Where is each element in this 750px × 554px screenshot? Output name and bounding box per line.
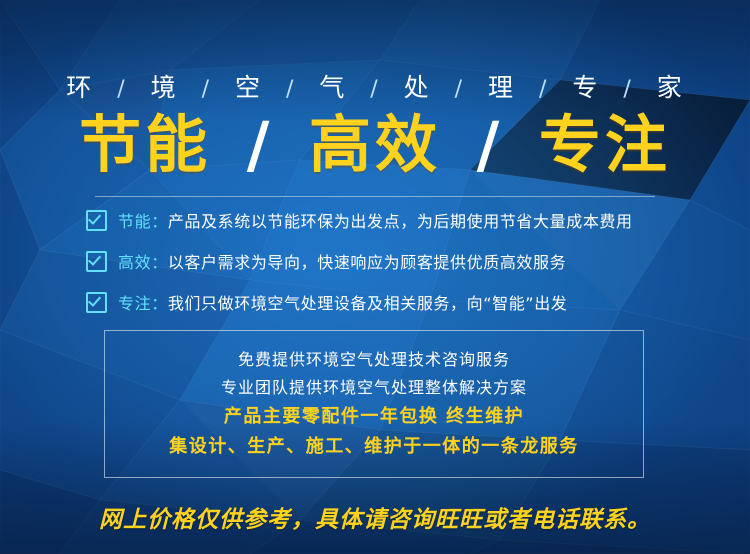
subtitle-char-5: 处	[404, 73, 431, 102]
subtitle-separator-7: /	[623, 77, 632, 102]
bullet-body-3: 我们只做环境空气处理设备及相关服务，向“智能”出发	[168, 294, 568, 313]
subtitle-separator-1: /	[117, 77, 126, 102]
bullet-body-1: 产品及系统以节能环保为出发点，为后期使用节省大量成本费用	[168, 212, 633, 231]
bullet-body-2: 以客户需求为导向，快速响应为顾客提供优质高效服务	[168, 253, 566, 272]
headline-separator-2: /	[477, 108, 504, 181]
bullet-text-2: 高效：以客户需求为导向，快速响应为顾客提供优质高效服务	[118, 249, 566, 273]
checkbox-check-icon	[86, 251, 107, 272]
box-line-2: 专业团队提供环境空气处理整体解决方案	[221, 380, 527, 396]
subtitle-separator-3: /	[286, 77, 295, 102]
bullet-text-1: 节能：产品及系统以节能环保为出发点，为后期使用节省大量成本费用	[118, 208, 633, 232]
subtitle-char-1: 环	[66, 73, 93, 102]
promo-banner: 环 / 境 / 空 / 气 / 处 / 理 / 专 / 家 节能 / 高效 / …	[0, 0, 750, 554]
subtitle-separator-6: /	[539, 77, 548, 102]
subtitle-char-3: 空	[235, 73, 262, 102]
subtitle-separator-5: /	[455, 77, 464, 102]
bullet-text-3: 专注：我们只做环境空气处理设备及相关服务，向“智能”出发	[118, 290, 567, 314]
subtitle-char-7: 专	[572, 73, 599, 102]
feature-bullet-list: 节能：产品及系统以节能环保为出发点，为后期使用节省大量成本费用 高效：以客户需求…	[86, 208, 690, 331]
bullet-key-3: 专注：	[118, 294, 168, 313]
headline-main: 节能 / 高效 / 专注	[0, 112, 750, 177]
checkbox-check-icon	[86, 210, 107, 231]
subtitle-char-6: 理	[488, 73, 515, 102]
box-line-1: 免费提供环境空气处理技术咨询服务	[238, 352, 510, 368]
bullet-key-1: 节能：	[118, 212, 168, 231]
headline-separator-1: /	[247, 108, 274, 181]
list-item: 高效：以客户需求为导向，快速响应为顾客提供优质高效服务	[86, 249, 690, 273]
box-line-4: 集设计、生产、施工、维护于一体的一条龙服务	[169, 438, 579, 456]
subtitle-separator-4: /	[370, 77, 379, 102]
subtitle-char-8: 家	[657, 73, 684, 102]
headline-subtitle: 环 / 境 / 空 / 气 / 处 / 理 / 专 / 家	[0, 68, 750, 104]
subtitle-separator-2: /	[202, 77, 211, 102]
footer-disclaimer: 网上价格仅供参考，具体请咨询旺旺或者电话联系。	[0, 500, 750, 534]
headline-word-3: 专注	[539, 108, 671, 181]
box-line-3: 产品主要零配件一年包换 终生维护	[224, 408, 524, 426]
list-item: 专注：我们只做环境空气处理设备及相关服务，向“智能”出发	[86, 290, 690, 314]
bullet-key-2: 高效：	[118, 253, 168, 272]
banner-content: 环 / 境 / 空 / 气 / 处 / 理 / 专 / 家 节能 / 高效 / …	[0, 0, 750, 554]
headline-word-1: 节能	[79, 108, 211, 181]
checkbox-check-icon	[86, 292, 107, 313]
list-item: 节能：产品及系统以节能环保为出发点，为后期使用节省大量成本费用	[86, 208, 690, 232]
subtitle-char-4: 气	[319, 73, 346, 102]
headline-divider	[95, 196, 655, 197]
headline-word-2: 高效	[309, 108, 441, 181]
service-promise-box: 免费提供环境空气处理技术咨询服务 专业团队提供环境空气处理整体解决方案 产品主要…	[104, 330, 644, 478]
subtitle-char-2: 境	[151, 73, 178, 102]
